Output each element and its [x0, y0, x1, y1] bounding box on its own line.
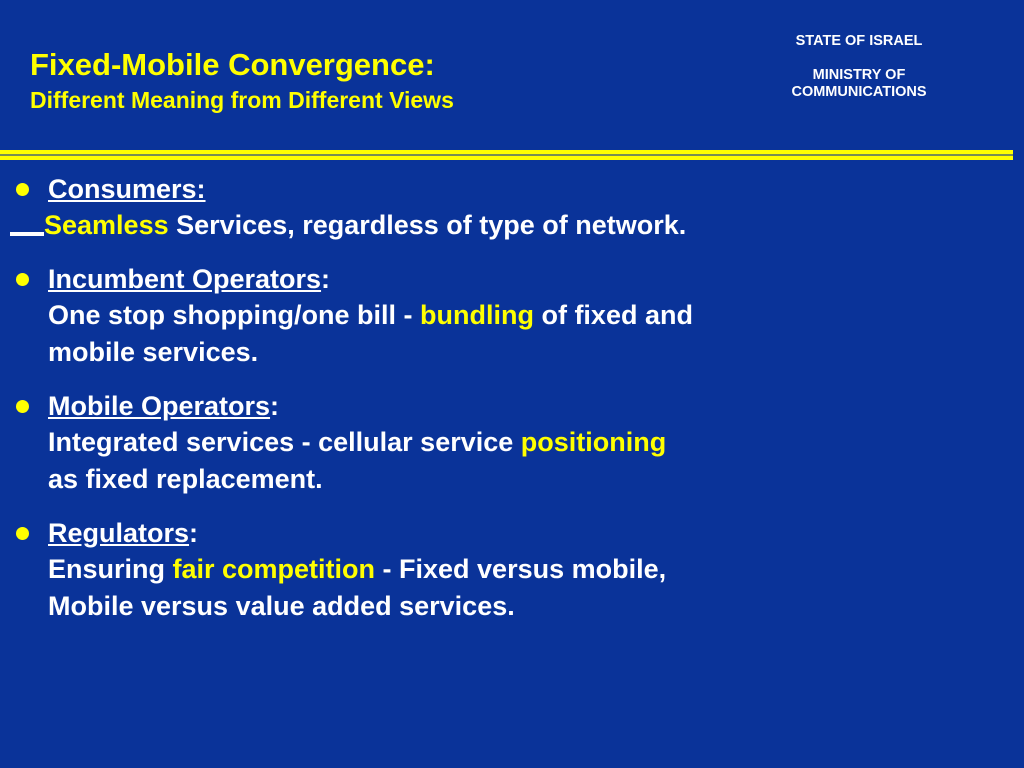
bullet-item: Consumers:Seamless Services, regardless …	[0, 172, 1024, 244]
leading-underline-artifact	[10, 232, 44, 236]
body-text: Mobile versus value added services.	[48, 591, 515, 621]
bullet-heading-tail: :	[270, 391, 279, 421]
divider-inner-line	[0, 154, 1013, 156]
bullet-body: Ensuring fair competition - Fixed versus…	[48, 551, 1024, 625]
bullet-item: Regulators:Ensuring fair competition - F…	[0, 516, 1024, 625]
highlighted-term: Seamless	[44, 210, 169, 240]
bullet-dot-icon	[16, 273, 29, 286]
highlighted-term: positioning	[521, 427, 666, 457]
bullet-dot-icon	[16, 527, 29, 540]
organization-identifier: STATE OF ISRAEL MINISTRY OF COMMUNICATIO…	[714, 33, 1004, 101]
body-text: of fixed and	[534, 300, 693, 330]
bullet-list: Consumers:Seamless Services, regardless …	[0, 172, 1024, 625]
title-line-1: Fixed-Mobile Convergence:	[30, 48, 690, 82]
slide-header: Fixed-Mobile Convergence: Different Mean…	[0, 0, 1024, 150]
body-text: One stop shopping/one bill -	[48, 300, 420, 330]
bullet-heading-underlined: Regulators	[48, 518, 189, 548]
body-text: mobile services.	[48, 337, 258, 367]
header-divider-rule	[0, 150, 1013, 160]
bullet-heading: Incumbent Operators:	[48, 262, 1024, 297]
bullet-heading: Regulators:	[48, 516, 1024, 551]
highlighted-term: fair competition	[173, 554, 376, 584]
bullet-heading-tail: :	[321, 264, 330, 294]
slide-root: Fixed-Mobile Convergence: Different Mean…	[0, 0, 1024, 768]
org-line-communications: COMMUNICATIONS	[714, 84, 1004, 101]
bullet-item: Incumbent Operators:One stop shopping/on…	[0, 262, 1024, 371]
bullet-body: Integrated services - cellular service p…	[48, 424, 1024, 498]
bullet-body-line: Seamless Services, regardless of type of…	[48, 207, 1024, 244]
org-line-state: STATE OF ISRAEL	[714, 33, 1004, 50]
bullet-dot-icon	[16, 400, 29, 413]
bullet-body: One stop shopping/one bill - bundling of…	[48, 297, 1024, 371]
bullet-heading: Mobile Operators:	[48, 389, 1024, 424]
bullet-heading-underlined: Consumers:	[48, 174, 206, 204]
body-text: as fixed replacement.	[48, 464, 323, 494]
org-line-ministry: MINISTRY OF	[714, 67, 1004, 84]
body-text: - Fixed versus mobile,	[375, 554, 666, 584]
bullet-item: Mobile Operators:Integrated services - c…	[0, 389, 1024, 498]
bullet-heading-underlined: Incumbent Operators	[48, 264, 321, 294]
body-text: Ensuring	[48, 554, 173, 584]
bullet-body-line: mobile services.	[48, 334, 1024, 371]
highlighted-term: bundling	[420, 300, 534, 330]
bullet-heading-tail: :	[189, 518, 198, 548]
bullet-heading-underlined: Mobile Operators	[48, 391, 270, 421]
title-line-2: Different Meaning from Different Views	[30, 86, 690, 114]
slide-title: Fixed-Mobile Convergence: Different Mean…	[30, 48, 690, 114]
body-text: Integrated services - cellular service	[48, 427, 521, 457]
bullet-body-line: Ensuring fair competition - Fixed versus…	[48, 551, 1024, 588]
body-text: Services, regardless of type of network.	[169, 210, 687, 240]
bullet-body-line: One stop shopping/one bill - bundling of…	[48, 297, 1024, 334]
bullet-dot-icon	[16, 183, 29, 196]
bullet-body-line: Integrated services - cellular service p…	[48, 424, 1024, 461]
bullet-body-line: as fixed replacement.	[48, 461, 1024, 498]
bullet-body-line: Mobile versus value added services.	[48, 588, 1024, 625]
bullet-body: Seamless Services, regardless of type of…	[48, 207, 1024, 244]
bullet-heading: Consumers:	[48, 172, 1024, 207]
